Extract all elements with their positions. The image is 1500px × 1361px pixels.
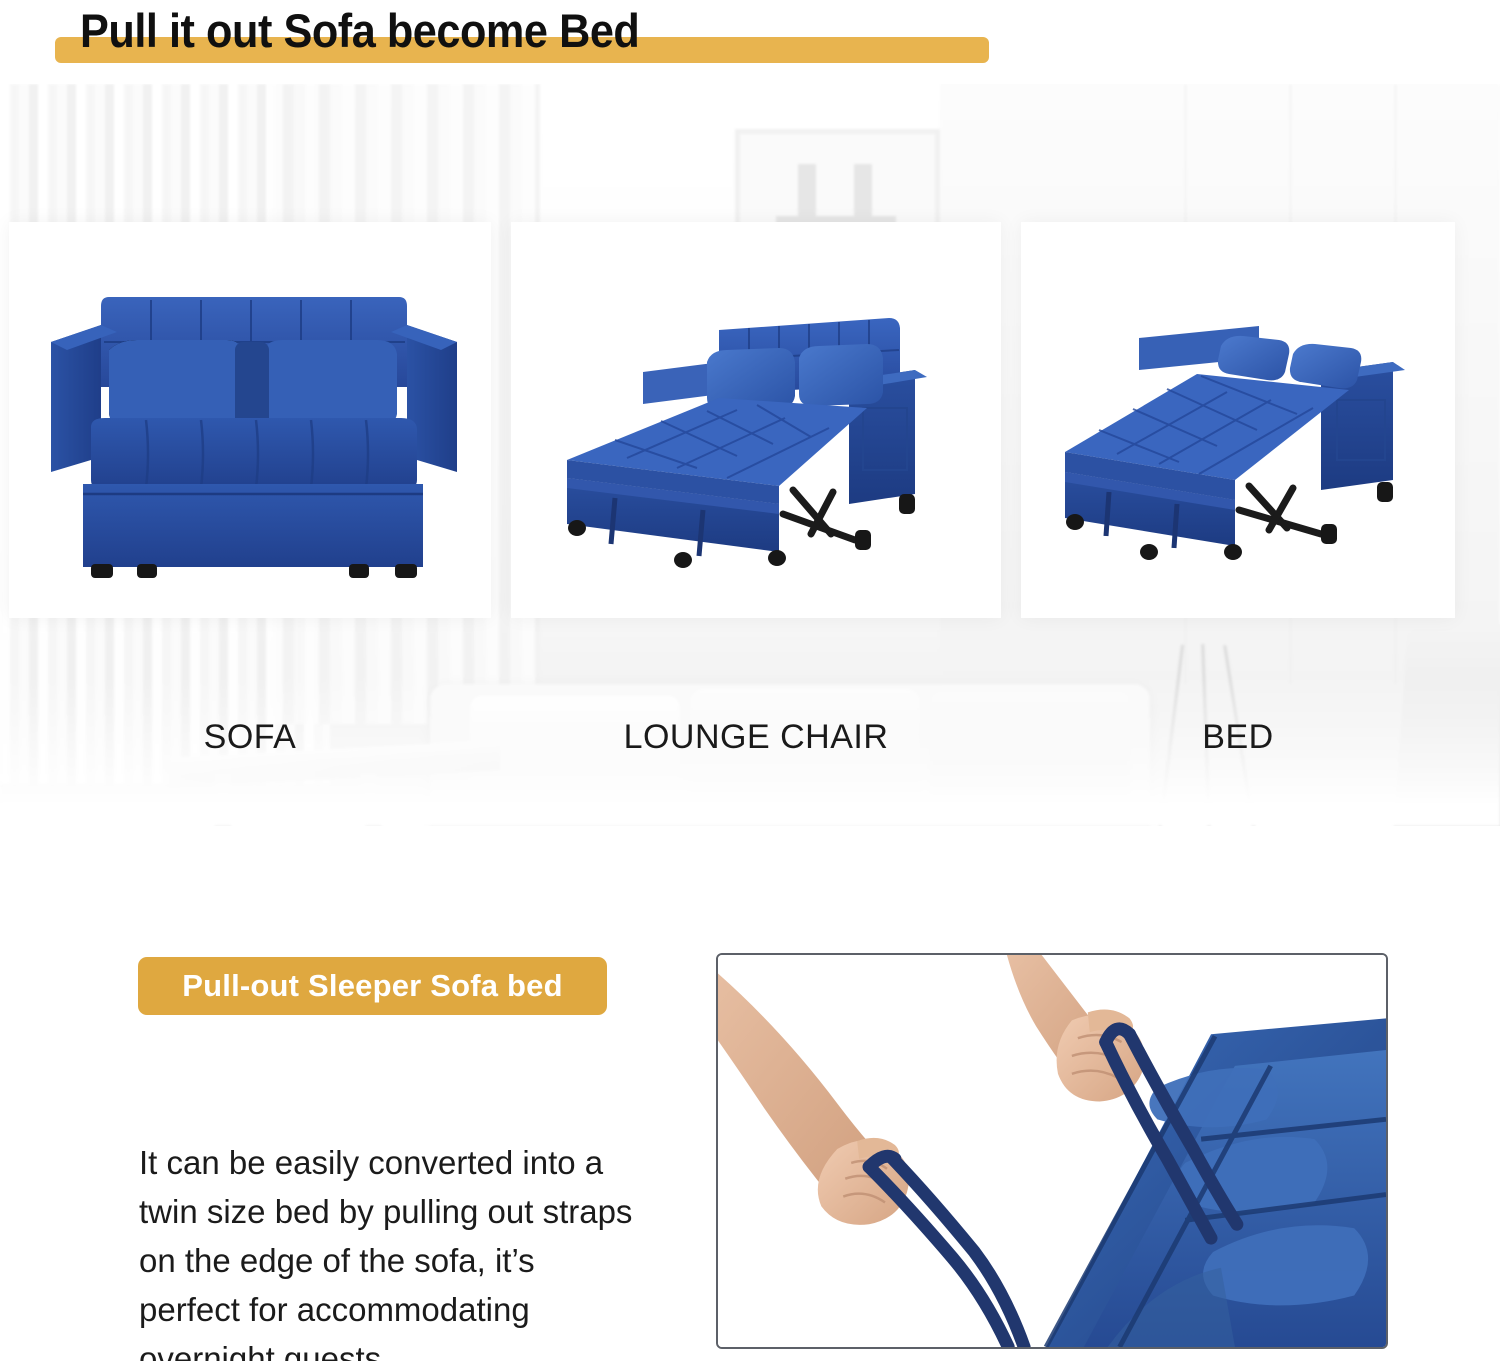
page-title-block: Pull it out Sofa become Bed — [0, 0, 1500, 84]
product-infographic: Pull it out Sofa become Bed — [0, 0, 1500, 1361]
sofa-closed-illustration — [9, 222, 491, 618]
product-card-caption-sofa: SOFA — [9, 716, 491, 758]
hands-pulling-straps-illustration — [718, 955, 1386, 1347]
page-title: Pull it out Sofa become Bed — [80, 2, 639, 60]
product-card-caption-bed: BED — [1021, 716, 1455, 758]
sofa-half-extended-illustration — [511, 222, 1001, 618]
feature-photo — [716, 953, 1388, 1349]
sofa-bed-illustration — [1021, 222, 1455, 618]
feature-badge: Pull-out Sleeper Sofa bed — [138, 957, 607, 1015]
feature-badge-label: Pull-out Sleeper Sofa bed — [182, 968, 563, 1004]
product-card-bed[interactable] — [1021, 222, 1455, 618]
feature-paragraph: It can be easily converted into a twin s… — [139, 1138, 639, 1361]
product-card-sofa[interactable] — [9, 222, 491, 618]
product-card-caption-lounge-chair: LOUNGE CHAIR — [511, 716, 1001, 758]
hero-section: SOFA LOUNGE CHAIR BED — [0, 84, 1500, 826]
product-card-lounge-chair[interactable] — [511, 222, 1001, 618]
